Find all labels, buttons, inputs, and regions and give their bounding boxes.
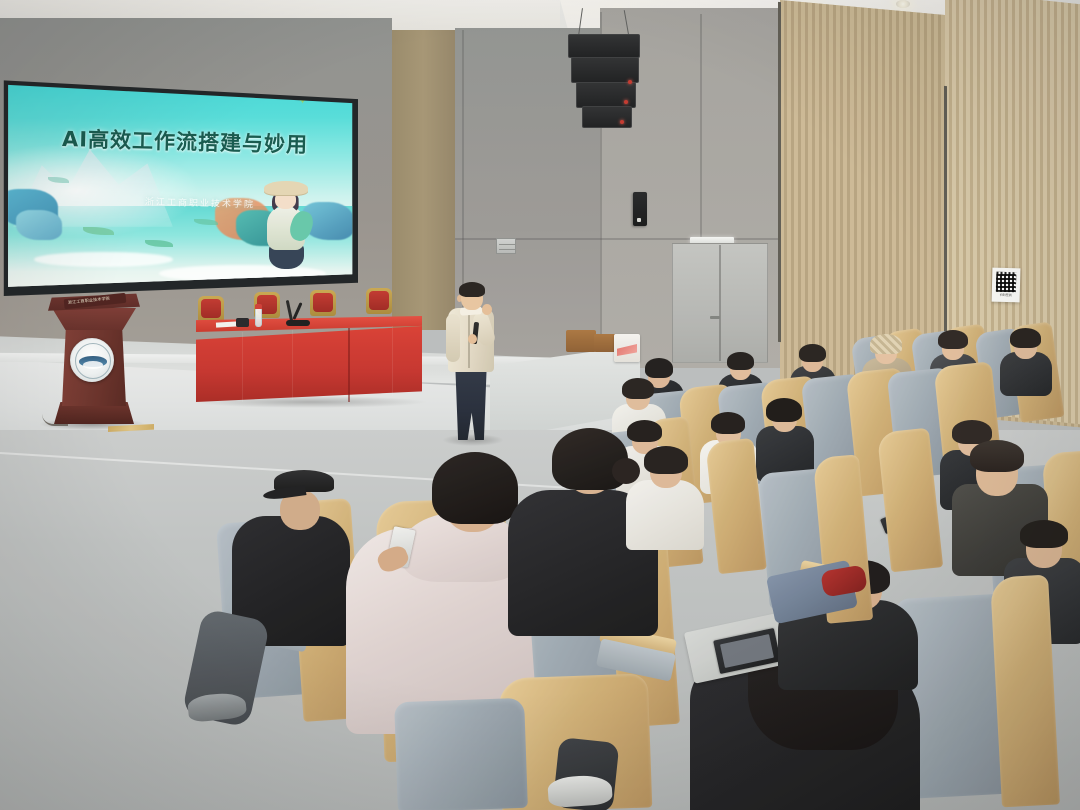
person-hair (622, 378, 654, 399)
audience-member (1000, 328, 1052, 390)
bottle-cap (255, 304, 262, 309)
qr-code-icon (996, 272, 1017, 293)
wall-vent (496, 238, 516, 254)
speaker-indicator (628, 80, 632, 84)
audience-member (756, 398, 814, 476)
presenter-left-arm (446, 314, 460, 362)
figure-straw-hat (264, 181, 308, 195)
person-body (626, 480, 704, 550)
table-fold (392, 326, 393, 396)
person-hair (711, 412, 745, 434)
presenter-trousers (454, 368, 488, 440)
qr-poster-caption: 扫码签到 (996, 293, 1016, 298)
speaker-indicator (620, 120, 624, 124)
speaker-module (576, 82, 636, 108)
presenter-hand (468, 334, 477, 344)
ceiling-line-array-speaker (566, 34, 644, 130)
person-hair-short (970, 440, 1024, 472)
school-emblem (70, 338, 114, 382)
vent-louver (499, 249, 515, 250)
chair-cushion (369, 291, 389, 310)
led-screen: ✦ AI高效工作流搭建与妙用 浙江工商职业技术学院 (6, 80, 354, 290)
person-hair (938, 330, 968, 349)
red-draped-table (196, 316, 422, 406)
slide-illustration-figure (260, 181, 312, 269)
speaker-module (582, 106, 632, 128)
vent-louver (499, 244, 515, 245)
water-bottle (255, 308, 262, 327)
wooden-crate (566, 330, 596, 352)
wall-speaker-indicator (637, 218, 641, 222)
podium: 浙江工商职业技术学院 (46, 292, 142, 432)
baseball-cap (274, 470, 334, 504)
slide-wave (34, 252, 173, 267)
microphone-stand (288, 300, 310, 326)
slide-rock (16, 210, 61, 239)
person-hair (645, 358, 673, 378)
presenter-hair (459, 282, 485, 297)
table-fold (242, 332, 243, 402)
presenter (444, 282, 502, 444)
person-hair (1010, 328, 1041, 348)
mic-base (286, 320, 310, 326)
slide-title: AI高效工作流搭建与妙用 (61, 123, 308, 159)
person-hair (1020, 520, 1068, 548)
podium-neck (52, 308, 136, 330)
person-hair (727, 352, 754, 370)
table-panel-seam (348, 328, 350, 402)
table-skirt (196, 326, 422, 402)
table-black-object (236, 318, 249, 327)
knit-hat (870, 334, 902, 354)
chair-cushion (313, 293, 333, 312)
speaker-module (568, 34, 640, 58)
qr-code-poster: 扫码签到 (992, 268, 1021, 303)
wooden-crate (594, 334, 616, 352)
auditorium-photo: 扫码签到 ✦ AI高效工作流搭建与妙用 浙江工商职业技术学院 (0, 0, 1080, 810)
person-hair (432, 452, 518, 524)
cap-brim (263, 485, 307, 501)
seat-back (394, 698, 528, 810)
presenter-raised-hand (482, 304, 492, 315)
door-handle[interactable] (710, 316, 720, 319)
speaker-indicator (624, 100, 628, 104)
person-hair (799, 344, 826, 362)
slat-seam (778, 2, 781, 342)
emblem-arc-inner (83, 361, 103, 369)
audience-member (626, 446, 704, 542)
door-seam (719, 245, 721, 361)
mic-gooseneck (292, 302, 302, 320)
person-hair (766, 398, 802, 422)
downlight (896, 0, 910, 8)
slide-subtitle: 浙江工商职业技术学院 (145, 194, 255, 210)
person-hair (644, 446, 688, 474)
wall-seam (700, 14, 702, 244)
seat-side-panel (990, 575, 1060, 808)
person-shoe (547, 774, 613, 808)
table-fold (292, 330, 293, 400)
